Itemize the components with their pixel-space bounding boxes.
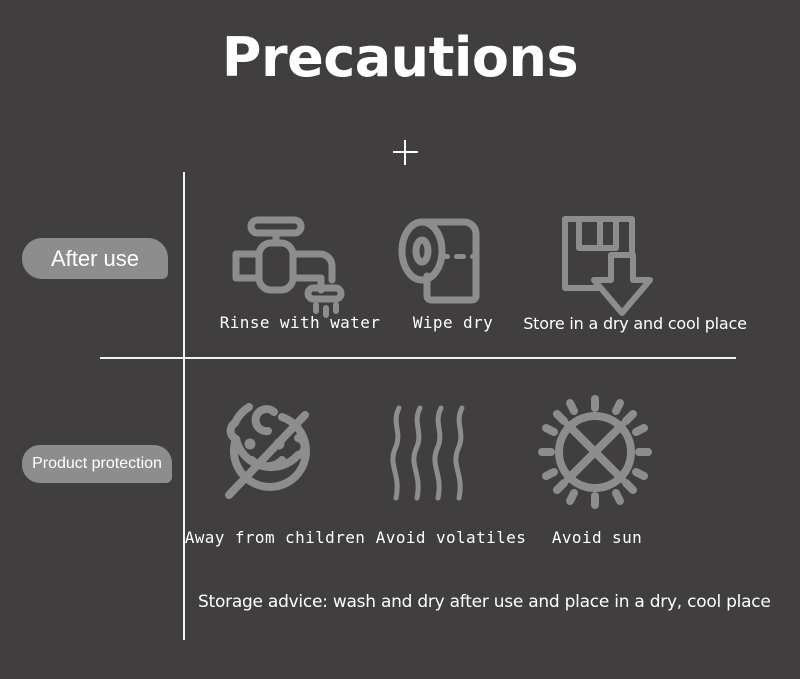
row-badge-after-use: After use bbox=[22, 238, 168, 279]
caption-store-in-dry-cool-place: Store in a dry and cool place bbox=[516, 314, 754, 333]
sun-crossed-out-icon bbox=[540, 398, 650, 506]
horizontal-divider-line bbox=[100, 357, 736, 359]
precautions-infographic: Precautions After use Product protection bbox=[0, 0, 800, 679]
crosshair-vertical-bar bbox=[404, 140, 406, 165]
download-arrow-shape bbox=[594, 255, 650, 313]
row-badge-product-protection: Product protection bbox=[22, 445, 172, 483]
faucet-water-icon bbox=[230, 218, 345, 308]
vertical-divider-line bbox=[183, 172, 185, 640]
caption-away-from-children: Away from children bbox=[175, 528, 375, 547]
storage-advice-text: Storage advice: wash and dry after use a… bbox=[198, 592, 768, 612]
caption-wipe-dry: Wipe dry bbox=[378, 313, 528, 332]
toilet-paper-roll-icon bbox=[398, 218, 490, 308]
baby-face-no-entry-icon bbox=[212, 398, 322, 506]
caption-avoid-volatiles: Avoid volatiles bbox=[373, 528, 529, 547]
plus-crosshair-icon bbox=[393, 140, 418, 165]
caption-avoid-sun: Avoid sun bbox=[530, 528, 664, 547]
page-title: Precautions bbox=[0, 28, 800, 87]
caption-rinse-with-water: Rinse with water bbox=[200, 313, 400, 332]
wavy-fumes-icon bbox=[390, 404, 478, 502]
floppy-disk-down-arrow-icon bbox=[560, 214, 664, 318]
